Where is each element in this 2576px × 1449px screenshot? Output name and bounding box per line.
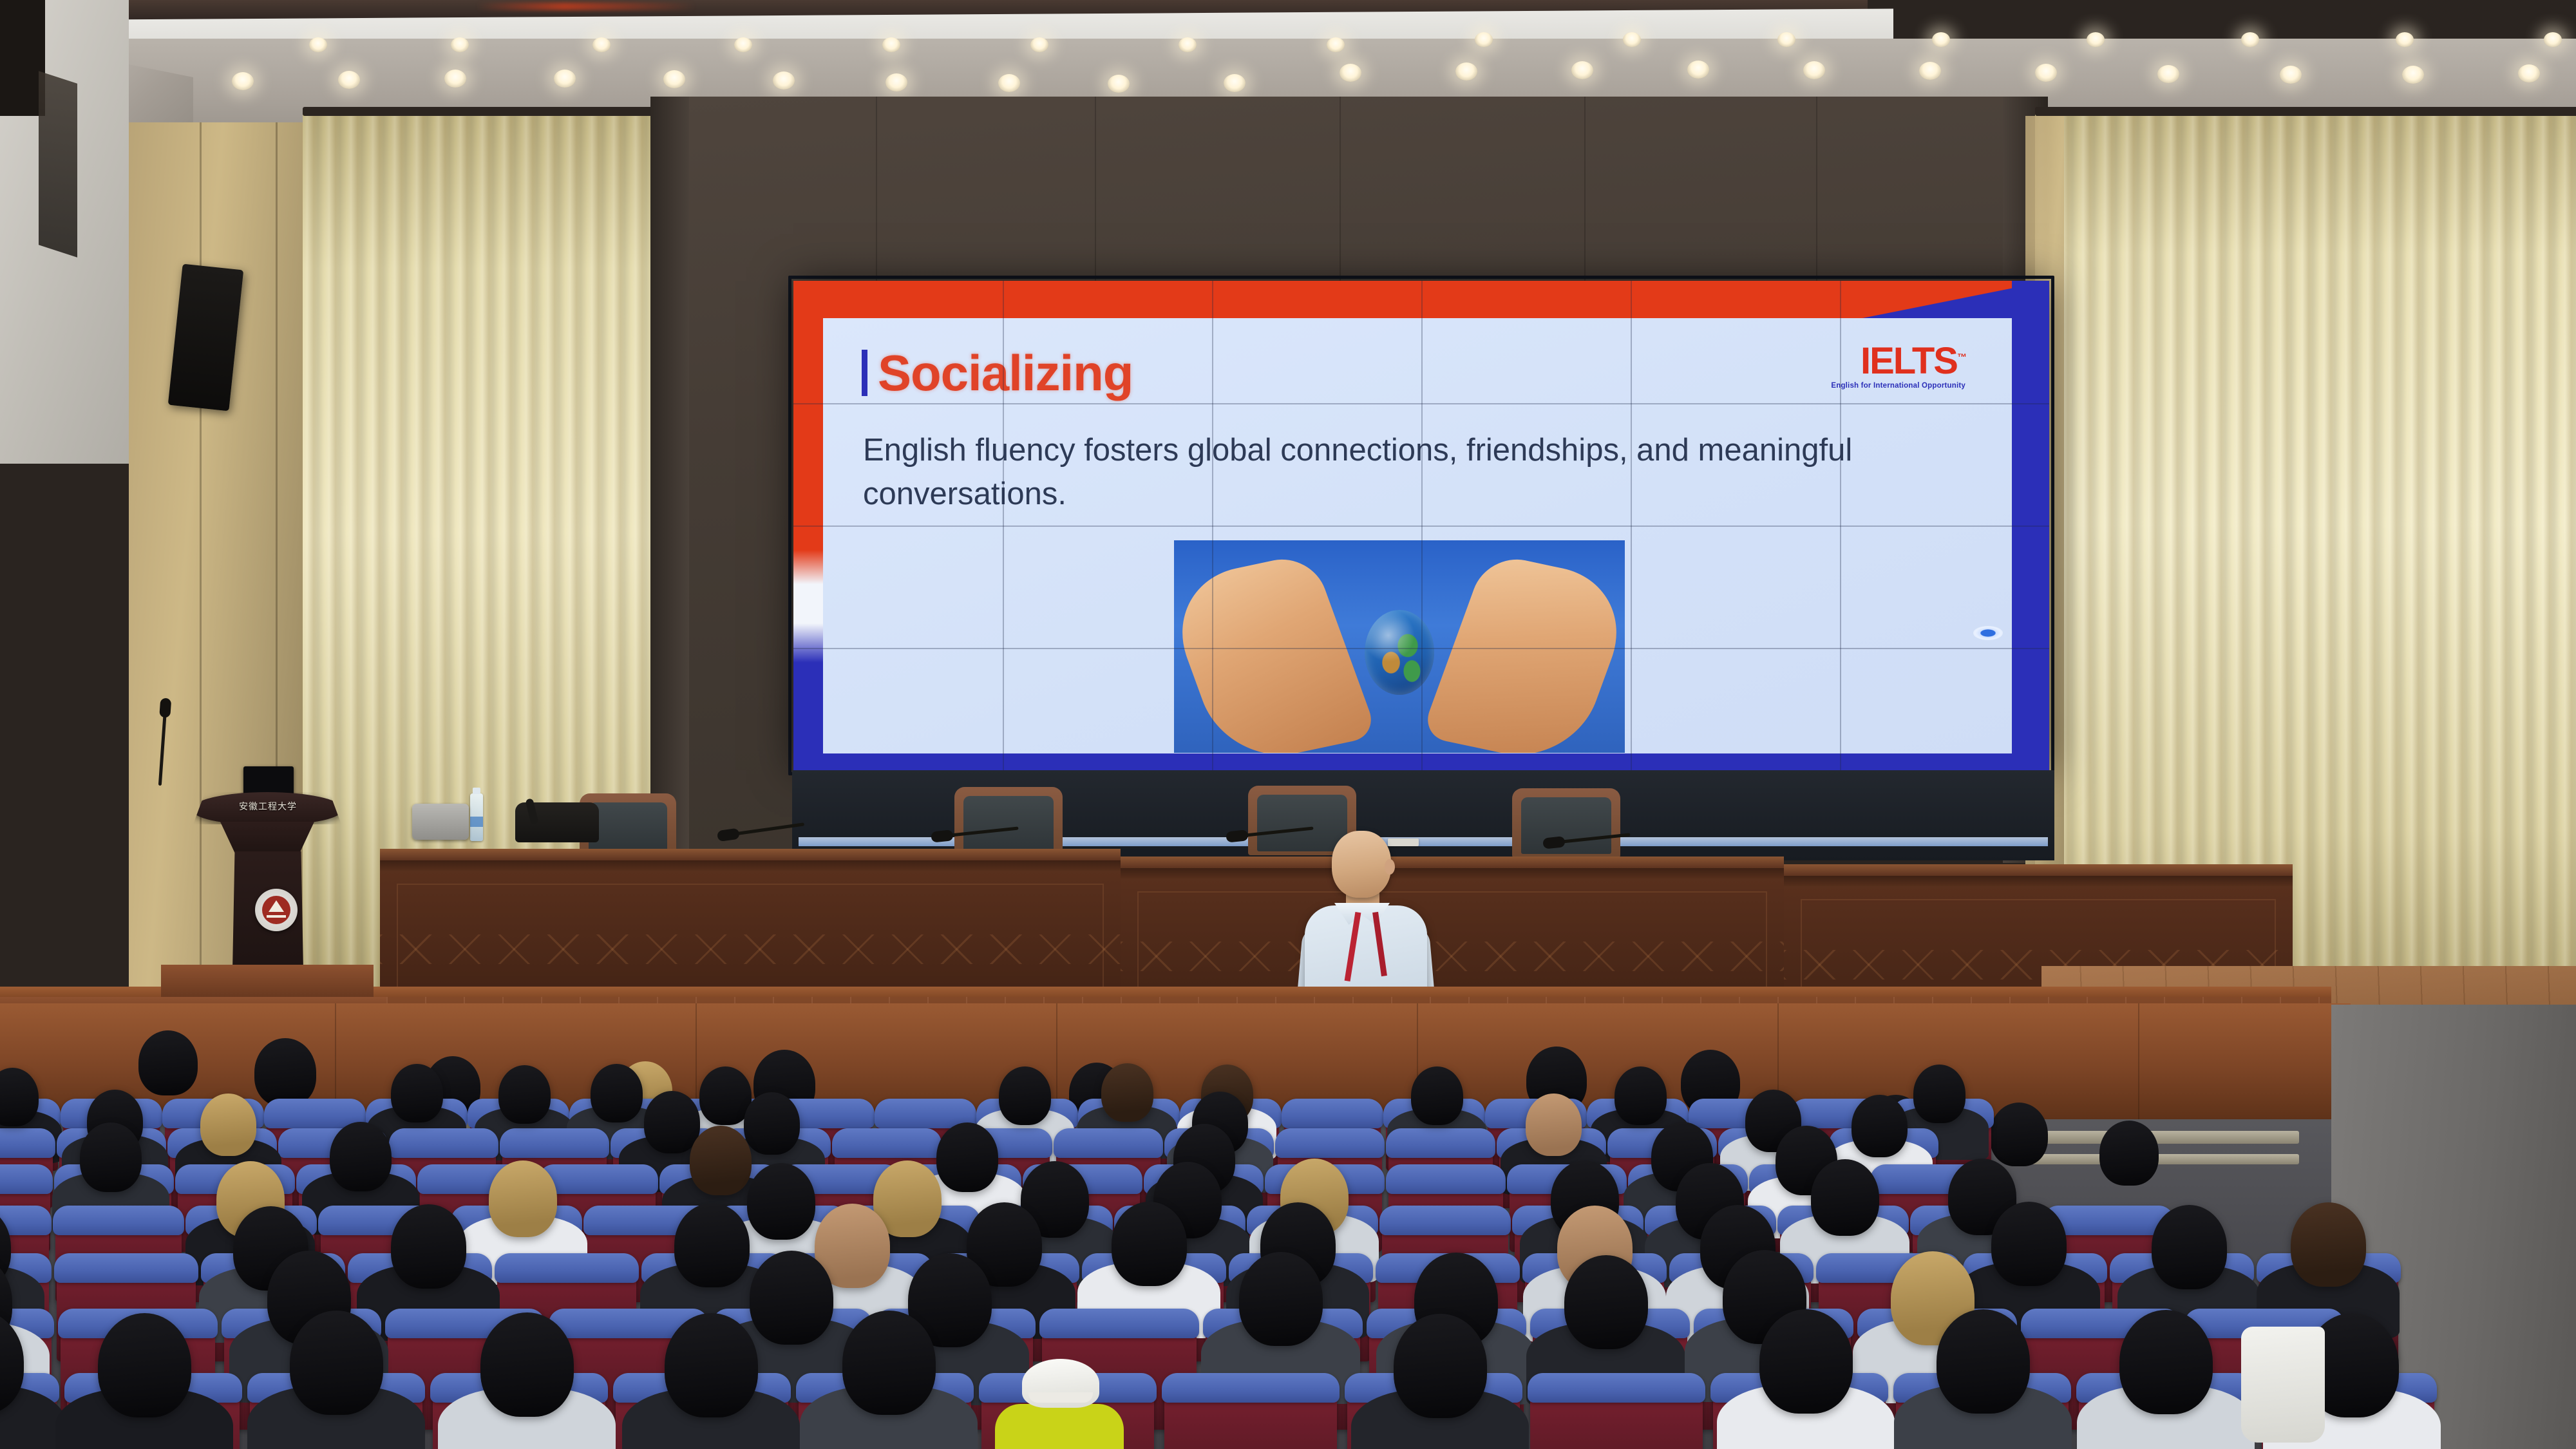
- audience-member-with-cap: [995, 1359, 1124, 1449]
- audience-member-head: [665, 1313, 758, 1417]
- audience-member-head: [1937, 1309, 2030, 1414]
- audience-member-head: [2099, 1121, 2159, 1186]
- seat-headrest: [1386, 1128, 1495, 1158]
- ceiling-downlight-icon: [1455, 62, 1477, 80]
- audience-member-head: [644, 1091, 700, 1153]
- auditorium-seat[interactable]: [1164, 1373, 1337, 1449]
- auditorium-photo: Socializing English fluency fosters glob…: [0, 0, 2576, 1449]
- audience-member-head: [1851, 1095, 1908, 1157]
- university-crest-icon: [255, 889, 298, 931]
- draped-white-jacket: [2241, 1327, 2325, 1443]
- audience-member-head: [674, 1203, 750, 1287]
- hand-left-shape: [1174, 553, 1378, 753]
- audience-member-head: [1564, 1255, 1648, 1349]
- ielts-tagline: English for International Opportunity: [1831, 382, 1965, 390]
- ceiling-downlight-icon: [1327, 37, 1345, 52]
- ceiling-downlight-icon: [1179, 37, 1197, 52]
- audience-member-head: [936, 1122, 998, 1192]
- portable-speaker: [412, 804, 469, 840]
- slide-content-area: Socializing English fluency fosters glob…: [823, 318, 2012, 753]
- slide-body-text: English fluency fosters global connectio…: [863, 429, 1941, 516]
- seat-headrest: [389, 1128, 498, 1158]
- presentation-slide: Socializing English fluency fosters glob…: [793, 281, 2049, 770]
- led-video-wall: Socializing English fluency fosters glob…: [793, 281, 2049, 770]
- ceiling-downlight-icon: [444, 70, 466, 88]
- audience-member-head: [98, 1313, 191, 1417]
- seat-headrest: [1039, 1309, 1199, 1338]
- ceiling-downlight-icon: [1224, 74, 1245, 92]
- ceiling-downlight-icon: [309, 37, 327, 52]
- ceiling-downlight-icon: [1932, 32, 1950, 47]
- ielts-logo: IELTS™ English for International Opportu…: [1831, 343, 1965, 390]
- audience-member-head: [842, 1311, 936, 1415]
- ceiling-downlight-icon: [2087, 32, 2105, 47]
- audience-member-head: [1990, 1103, 2048, 1166]
- presenter-ear: [1385, 859, 1395, 875]
- seat-headrest: [495, 1253, 639, 1283]
- slide-left-color-band: [793, 281, 823, 770]
- ceiling-downlight-icon: [232, 72, 254, 90]
- left-corner-shadow: [39, 71, 77, 257]
- title-accent-bar: [862, 350, 867, 396]
- ceiling-downlight-icon: [1919, 62, 1941, 80]
- stage-chair: [1512, 788, 1620, 858]
- lectern-nameplate: 安徽工程大学: [227, 800, 309, 813]
- seat-headrest: [0, 1128, 55, 1158]
- ceiling-downlight-icon: [2280, 66, 2302, 84]
- audience-member-head: [690, 1126, 752, 1195]
- audience-member-head: [200, 1094, 256, 1156]
- audience-member-head: [744, 1092, 800, 1155]
- slide-marker-dot-icon: [1973, 626, 2003, 640]
- audience-member-head: [1526, 1094, 1582, 1156]
- audience-member-head: [391, 1204, 466, 1289]
- ceiling-downlight-icon: [1803, 61, 1825, 79]
- ceiling-downlight-icon: [338, 71, 360, 89]
- seat-headrest: [1386, 1164, 1506, 1194]
- backpack: [515, 802, 599, 842]
- seat-headrest: [1275, 1128, 1385, 1158]
- audience-member-head: [1759, 1309, 1853, 1414]
- audience-member-head: [1239, 1252, 1323, 1346]
- seat-headrest: [53, 1206, 184, 1235]
- ceiling-downlight-icon: [1108, 75, 1130, 93]
- ceiling-downlight-icon: [1571, 61, 1593, 79]
- seat-headrest: [500, 1128, 609, 1158]
- audience-member-head: [1615, 1066, 1667, 1125]
- water-bottle: [470, 793, 483, 841]
- audience-member-head: [1112, 1202, 1187, 1286]
- audience-member-head: [2119, 1310, 2213, 1414]
- seat-headrest: [1054, 1128, 1163, 1158]
- audience-member-head: [2291, 1202, 2366, 1287]
- ceiling-downlight-icon: [882, 37, 900, 52]
- audience-member-head: [138, 1030, 198, 1095]
- audience-member-head: [1991, 1202, 2067, 1286]
- ceiling-downlight-icon: [2241, 32, 2259, 47]
- ielts-wordmark: IELTS™: [1831, 343, 1965, 380]
- audience-member-head: [999, 1066, 1051, 1125]
- aisle-rail: [2022, 1154, 2299, 1164]
- audience-member-head: [254, 1038, 316, 1106]
- ceiling-downlight-icon: [1030, 37, 1048, 52]
- seat-headrest: [832, 1128, 942, 1158]
- lectern-monitor: [243, 766, 294, 795]
- curtain-rail-left: [303, 107, 689, 116]
- ceiling-downlight-icon: [1623, 32, 1641, 47]
- seat-headrest: [54, 1253, 198, 1283]
- ielts-word-text: IELTS: [1861, 340, 1957, 382]
- audience-member-head: [1811, 1159, 1879, 1236]
- ceiling-downlight-icon: [2396, 32, 2414, 47]
- ceiling-downlight-icon: [1687, 61, 1709, 79]
- audience-member-head: [480, 1312, 574, 1417]
- stage-chair: [954, 787, 1063, 857]
- seat-headrest: [1379, 1206, 1511, 1235]
- yellow-shirt: [995, 1404, 1124, 1449]
- slide-title: Socializing: [878, 348, 1133, 398]
- slide-bottom-band: [793, 753, 2049, 770]
- seat-headrest: [0, 1164, 53, 1194]
- audience-member-head: [747, 1163, 815, 1240]
- curtain-rail-right: [2035, 107, 2576, 116]
- ceiling-downlight-icon: [554, 70, 576, 88]
- slide-red-header-band: [793, 281, 2049, 318]
- seat-headrest: [1528, 1373, 1705, 1403]
- trademark-icon: ™: [1957, 352, 1965, 363]
- audience-member-head: [290, 1311, 383, 1415]
- ceiling-downlight-icon: [1777, 32, 1795, 47]
- audience-member-head: [80, 1122, 142, 1192]
- audience-member-head: [1394, 1314, 1487, 1418]
- hand-right-shape: [1421, 553, 1625, 753]
- audience-member-head: [591, 1064, 643, 1122]
- seat-headrest: [1162, 1373, 1340, 1403]
- auditorium-seat[interactable]: [1530, 1373, 1703, 1449]
- slide-right-color-band: [2012, 281, 2049, 770]
- ceiling-downlight-icon: [451, 37, 469, 52]
- ceiling-downlight-icon: [773, 71, 795, 90]
- ceiling-downlight-icon: [2402, 66, 2424, 84]
- audience-member-head: [391, 1064, 443, 1122]
- presenter-head: [1332, 831, 1391, 898]
- globe-icon: [1365, 610, 1434, 695]
- proscenium-left: [650, 97, 689, 863]
- audience-member-head: [498, 1065, 551, 1124]
- audience-member-head: [1411, 1066, 1463, 1125]
- ceiling-downlight-icon: [2544, 32, 2562, 47]
- cap-brim: [1028, 1392, 1093, 1403]
- audience-member-head: [330, 1122, 392, 1191]
- ceiling-downlight-icon: [1340, 64, 1361, 82]
- seat-headrest: [538, 1164, 658, 1194]
- audience-member-head: [1101, 1063, 1153, 1122]
- ceiling-downlight-icon: [998, 74, 1020, 92]
- audience-member-head: [750, 1251, 833, 1345]
- ceiling-downlight-icon: [2035, 64, 2057, 82]
- ceiling-downlight-icon: [663, 70, 685, 88]
- audience-member-head: [699, 1066, 752, 1125]
- ceiling-downlight-icon: [2157, 65, 2179, 83]
- ceiling-downlight-icon: [592, 37, 611, 52]
- audience-member-head: [489, 1160, 557, 1237]
- slide-title-group: Socializing: [862, 348, 1133, 398]
- ceiling-downlight-icon: [1475, 32, 1493, 47]
- audience-member-head: [2152, 1205, 2227, 1289]
- ceiling-downlight-icon: [734, 37, 752, 52]
- audience-member-head: [1913, 1065, 1965, 1123]
- seat-headrest: [1282, 1099, 1383, 1128]
- slide-image-hands-globe: [1174, 540, 1625, 753]
- ceiling-downlight-icon: [885, 73, 907, 91]
- ceiling-downlight-icon: [2518, 64, 2540, 82]
